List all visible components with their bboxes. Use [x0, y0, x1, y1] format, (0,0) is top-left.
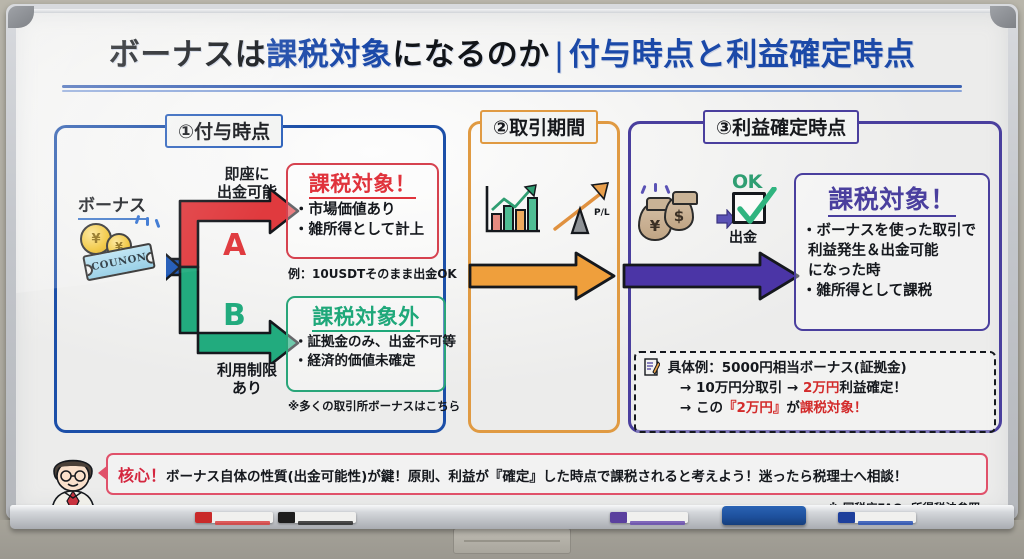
marker-tray — [10, 505, 1014, 529]
taxable-result-title: 課税対象！ — [288, 165, 437, 200]
final-taxable-result-box: 課税対象！ ・ボーナスを使った取引で 利益発生＆出金可能 になった時 ・雑所得と… — [794, 173, 990, 331]
advisor-person-icon — [42, 449, 104, 510]
final-bullet-2: 利益発生＆出金可能 — [796, 241, 988, 261]
pl-label: P/L — [594, 208, 610, 218]
final-taxable-title: 課税対象！ — [796, 175, 988, 218]
branch-a-letter: A — [223, 228, 246, 263]
non-taxable-bullet-2: ・経済的価値未確定 — [288, 352, 444, 371]
profit-loss-seesaw-icon: P/L — [552, 181, 614, 241]
example-line-2: → 10万円分取引 → 2万円利益確定！ — [644, 379, 986, 399]
check-mark-icon — [734, 187, 778, 229]
taxable-example-note: 例：10USDTそのまま出金OK — [288, 265, 457, 282]
money-bags-illustration: ¥ $ — [638, 185, 714, 247]
final-bullet-1: ・ボーナスを使った取引で — [796, 218, 988, 241]
arrow-panel1-to-panel2 — [468, 251, 618, 301]
blue-marker[interactable] — [838, 512, 916, 523]
non-taxable-result-box: 課税対象外 ・証拠金のみ、出金不可等 ・経済的価値未確定 — [286, 296, 446, 392]
title-part-2: 課税対象 — [266, 37, 392, 73]
non-taxable-note: ※多くの取引所ボーナスはこちら — [288, 398, 460, 414]
bag-sparkle-2 — [654, 183, 657, 192]
page-title: ボーナスは課税対象になるのか|付与時点と利益確定時点 — [16, 29, 1008, 74]
summary-text: 核心！ボーナス自体の性質(出金可能性)が鍵！原則、利益が『確定』した時点で課税さ… — [118, 462, 907, 486]
sparkle-1 — [135, 215, 140, 224]
summary-keyword: 核心！ — [118, 466, 166, 485]
title-part-1: ボーナスは — [109, 37, 267, 73]
taxable-bullet-1: ・市場価値あり — [288, 200, 437, 220]
bar-chart-icon — [482, 183, 544, 239]
taxable-bullet-2: ・雑所得として計上 — [288, 220, 437, 240]
memo-pencil-icon — [644, 358, 660, 376]
panel1-header: ①付与時点 — [165, 114, 283, 148]
branch-arrows-diagram — [166, 163, 306, 363]
sparkle-3 — [155, 219, 160, 228]
arrow-panel2-to-panel3 — [622, 251, 802, 301]
whiteboard-surface: ボーナスは課税対象になるのか|付与時点と利益確定時点 ①付与時点 ボーナス ¥ … — [16, 13, 1008, 510]
wall-plate — [453, 528, 571, 554]
title-part-4: 付与時点と利益確定時点 — [569, 37, 916, 73]
non-taxable-bullet-1: ・証拠金のみ、出金不可等 — [288, 333, 444, 352]
key-summary-banner: 核心！ボーナス自体の性質(出金可能性)が鍵！原則、利益が『確定』した時点で課税さ… — [106, 453, 988, 495]
panel2-header: ②取引期間 — [480, 110, 598, 144]
tray-lip — [10, 505, 1014, 512]
panel3-header: ③利益確定時点 — [703, 110, 859, 144]
black-marker[interactable] — [278, 512, 356, 523]
blue-eraser[interactable] — [722, 506, 806, 525]
title-underline-primary — [62, 85, 962, 88]
withdrawal-ok-indicator: OK 出金 — [728, 171, 790, 249]
withdrawal-label: 出金 — [729, 227, 757, 247]
red-marker[interactable] — [195, 512, 273, 523]
example-line-3: → この『2万円』が課税対象！ — [644, 399, 986, 419]
bag-sparkle-1 — [640, 185, 646, 194]
title-part-3: になるのか — [392, 37, 550, 73]
branch-b-letter: B — [223, 298, 246, 333]
title-underline-secondary — [62, 90, 962, 92]
non-taxable-result-title: 課税対象外 — [288, 298, 444, 333]
sparkle-2 — [146, 217, 149, 226]
money-bag-dollar-icon: $ — [664, 197, 694, 231]
concrete-example-box: 具体例：5000円相当ボーナス(証拠金) → 10万円分取引 → 2万円利益確定… — [634, 351, 996, 433]
final-bullet-4: ・雑所得として課税 — [796, 281, 988, 301]
taxable-result-box: 課税対象！ ・市場価値あり ・雑所得として計上 — [286, 163, 439, 259]
bag-sparkle-3 — [664, 185, 670, 194]
example-line-1: 具体例：5000円相当ボーナス(証拠金) — [644, 358, 986, 379]
whiteboard-frame: ボーナスは課税対象になるのか|付与時点と利益確定時点 ①付与時点 ボーナス ¥ … — [6, 4, 1018, 520]
final-bullet-3: になった時 — [796, 261, 988, 281]
title-divider: | — [550, 37, 569, 73]
purple-marker[interactable] — [610, 512, 688, 523]
